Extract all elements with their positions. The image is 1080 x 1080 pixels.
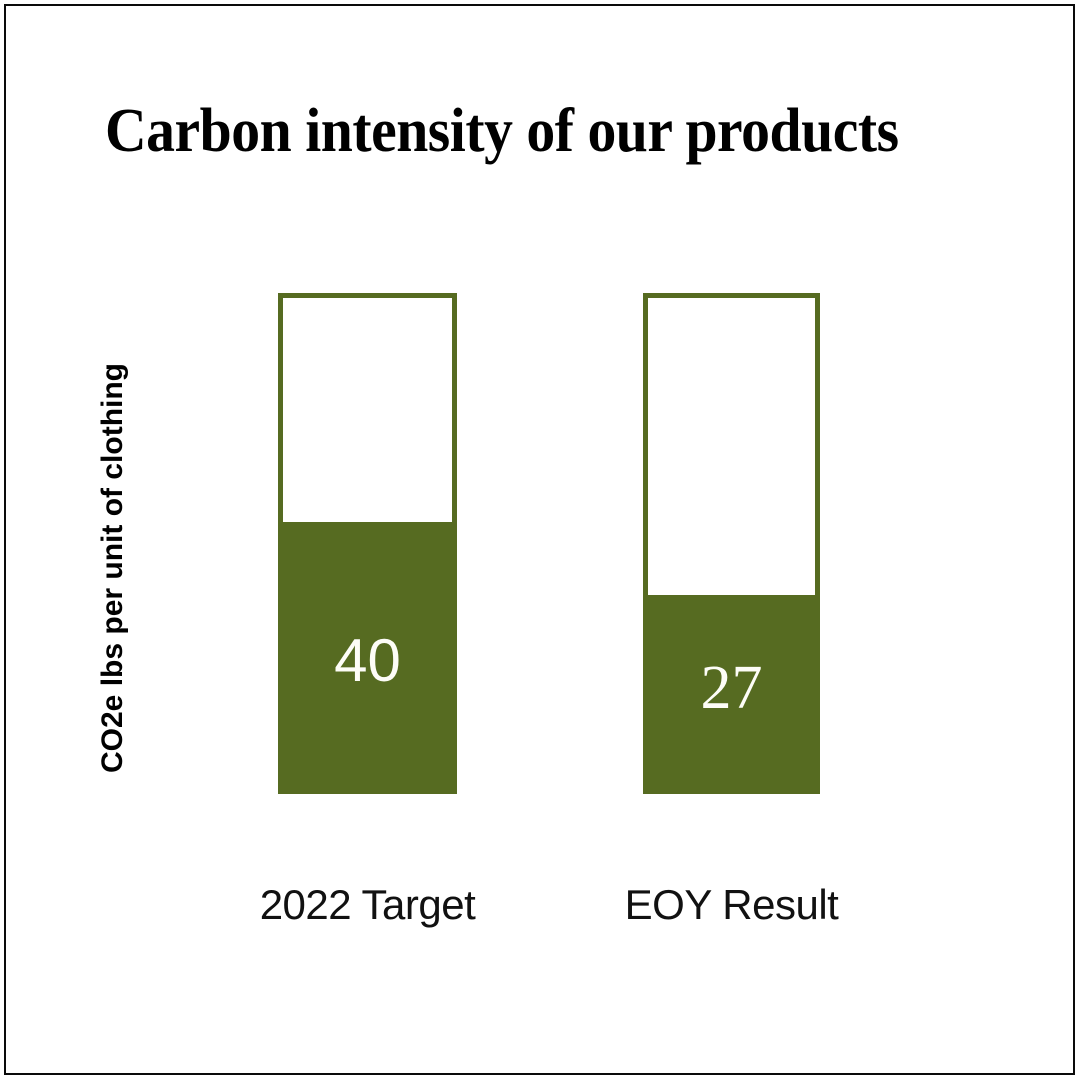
category-label-2022-target: 2022 Target	[178, 881, 557, 929]
bar-value-eoy-result: 27	[643, 657, 820, 719]
chart-canvas: Carbon intensity of our products CO2e lb…	[0, 0, 1080, 1080]
plot-area: 40 2022 Target 27 EOY Result	[0, 0, 1080, 1080]
category-label-eoy-result: EOY Result	[542, 881, 921, 929]
bar-group-eoy-result: 27	[643, 293, 820, 794]
bar-group-2022-target: 40	[278, 293, 457, 794]
bar-value-2022-target: 40	[278, 631, 457, 691]
